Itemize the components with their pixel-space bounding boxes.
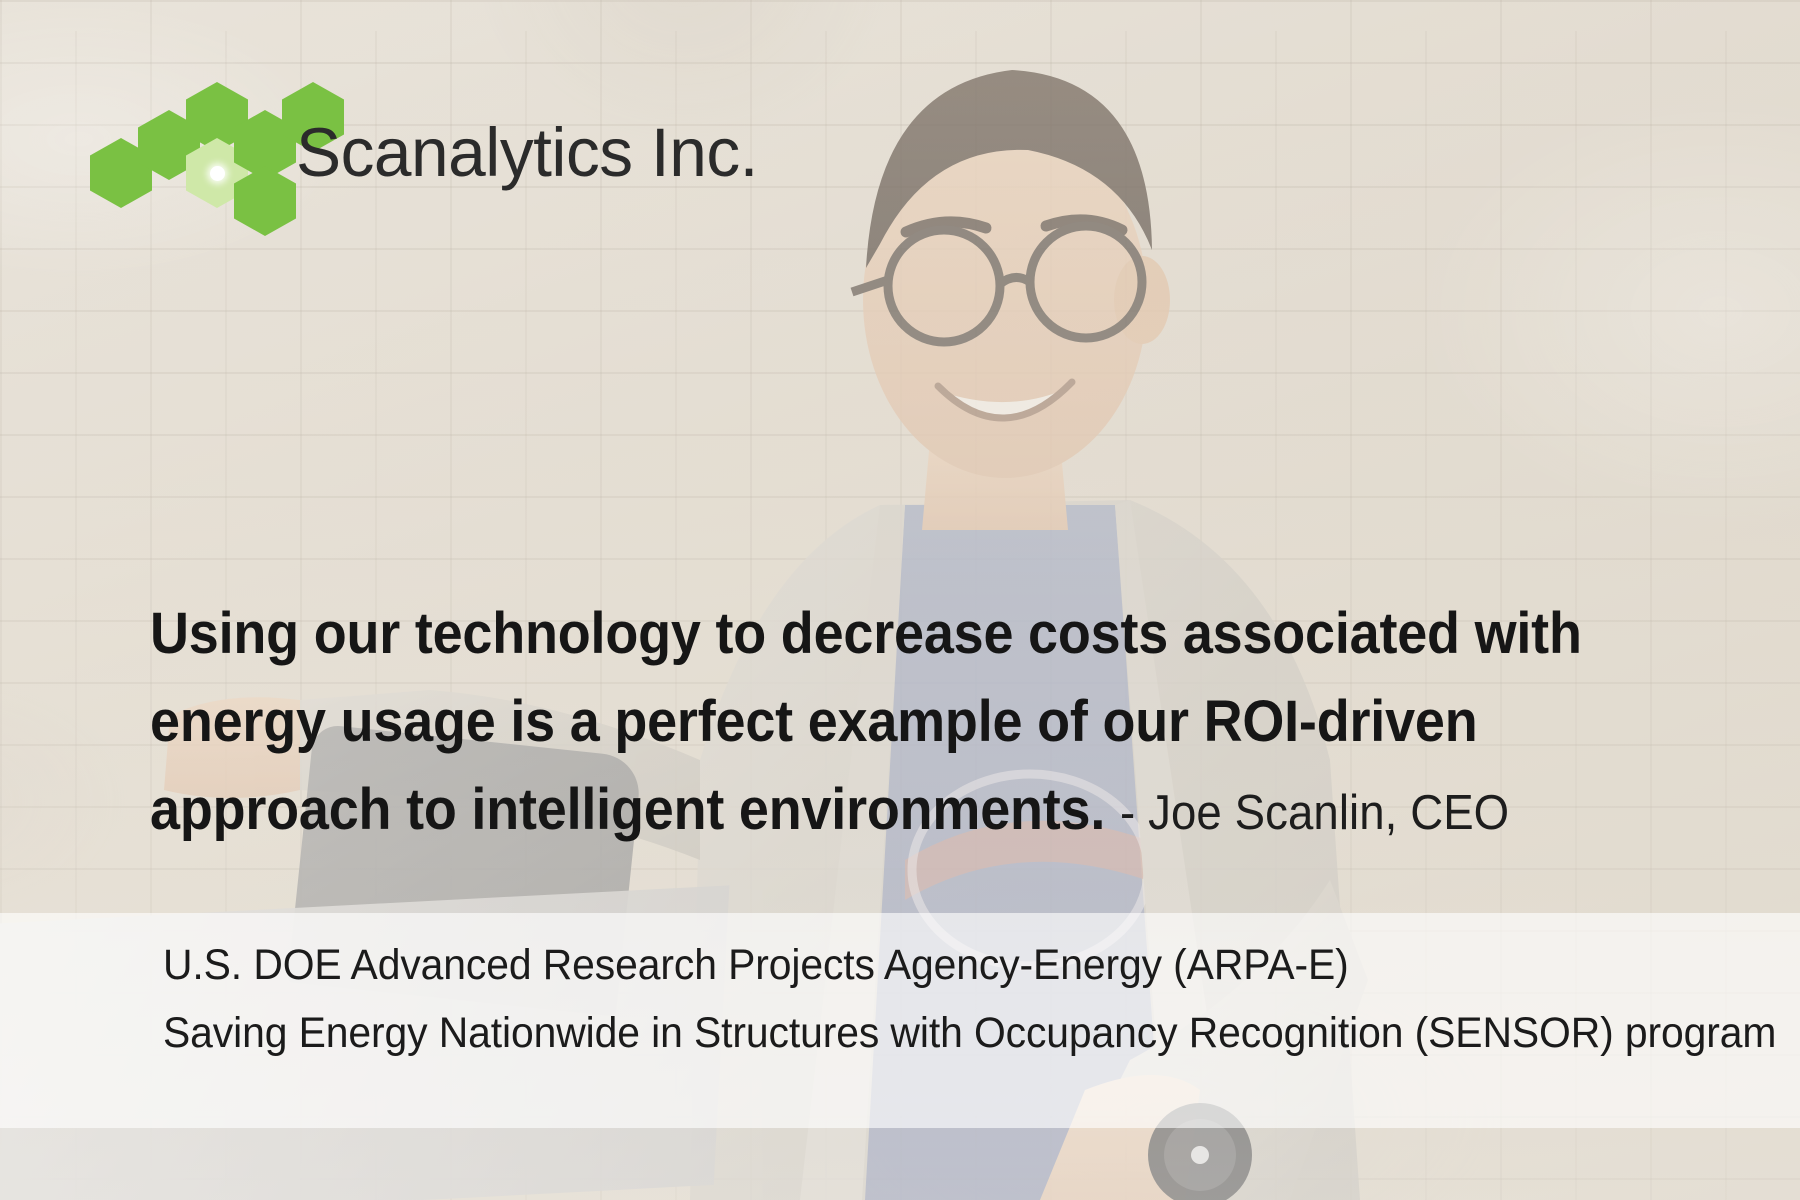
scanalytics-logo: Scanalytics Inc.: [90, 96, 767, 208]
presentation-slide: Scanalytics Inc. Using our technology to…: [0, 0, 1800, 1200]
program-caption-text: U.S. DOE Advanced Research Projects Agen…: [163, 932, 1763, 1068]
quote-attribution: - Joe Scanlin, CEO: [1120, 786, 1509, 840]
program-line-1: U.S. DOE Advanced Research Projects Agen…: [163, 932, 1683, 1000]
program-line-2: Saving Energy Nationwide in Structures w…: [163, 1000, 1683, 1068]
company-wordmark: Scanalytics Inc.: [296, 118, 758, 187]
quote-line-1: Using our technology to decrease costs a…: [150, 590, 1601, 678]
scanalytics-hexagon-logo-icon: [90, 96, 270, 208]
quote-line-2: energy usage is a perfect example of our…: [150, 678, 1601, 766]
quote-block: Using our technology to decrease costs a…: [150, 590, 1710, 854]
sensor-dot-icon: [210, 166, 225, 181]
quote-line-3-with-attribution: approach to intelligent environments.- J…: [150, 766, 1601, 854]
quote-line-3: approach to intelligent environments.: [150, 777, 1105, 842]
